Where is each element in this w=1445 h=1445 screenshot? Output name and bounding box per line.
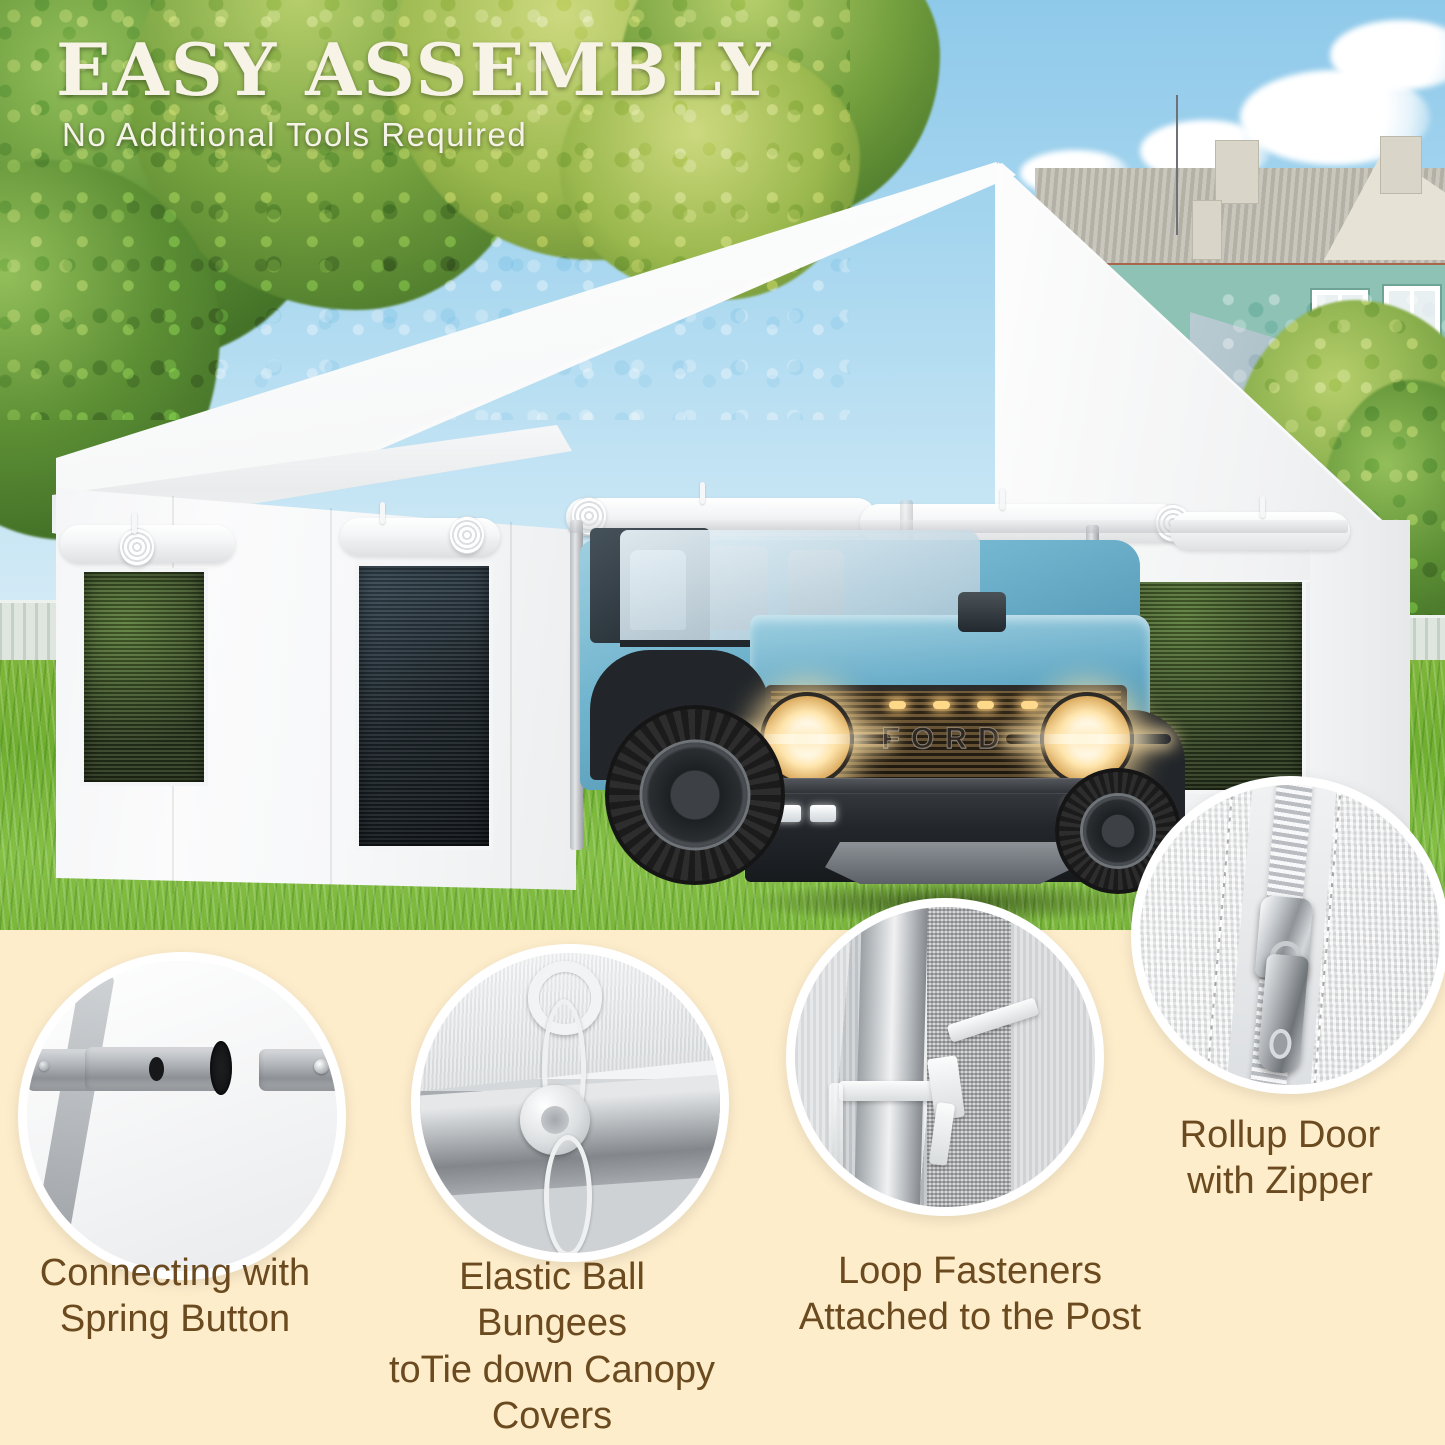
caption-ball-bungee-line-3: Covers — [380, 1393, 724, 1439]
bungee-elastic-cord-lower — [544, 1135, 592, 1253]
rollup-flap-left-2-cap — [450, 516, 484, 554]
rollup-flap-left-1-cap — [120, 528, 154, 566]
caption-ball-bungee-line-2: toTie down Canopy — [380, 1347, 724, 1393]
grille-led-2 — [933, 701, 950, 709]
caption-loop-fastener-line-1: Loop Fasteners — [790, 1248, 1150, 1294]
vehicle-grille-brand-text: FORD — [882, 722, 1011, 756]
feature-callout-spring-button — [18, 952, 346, 1280]
rollup-tie-front-3 — [1260, 496, 1265, 518]
caption-ball-bungee: Elastic Ball Bungees toTie down Canopy C… — [380, 1254, 724, 1439]
grille-led-4 — [1021, 701, 1038, 709]
caption-loop-fastener-line-2: Attached to the Post — [790, 1294, 1150, 1340]
product-feature-image: FORD — [0, 0, 1445, 1445]
grille-led-1 — [889, 701, 906, 709]
vehicle-wheel-front-left — [605, 705, 785, 885]
caption-ball-bungee-line-1: Elastic Ball Bungees — [380, 1254, 724, 1347]
loop-fastener-edge-hem — [829, 1083, 843, 1179]
rollup-tie-front-1 — [700, 482, 705, 504]
caption-rollup-zipper-line-2: with Zipper — [1130, 1158, 1430, 1204]
caption-spring-button-line-1: Connecting with — [20, 1250, 330, 1296]
wall-seam-3 — [510, 522, 512, 922]
carport-window-left-1 — [80, 568, 208, 786]
carport-window-left-2 — [355, 562, 493, 850]
spring-button-knob-secondary — [39, 1061, 49, 1071]
vehicle-foglight-left-b — [810, 805, 836, 822]
feature-callout-ball-bungee — [411, 944, 729, 1262]
rollup-tie-front-2 — [1000, 488, 1005, 510]
canopy-post — [854, 907, 929, 1207]
caption-spring-button-line-2: Spring Button — [20, 1296, 330, 1342]
grille-led-3 — [977, 701, 994, 709]
feature-callout-rollup-zipper — [1131, 776, 1445, 1094]
spring-button-hole — [149, 1057, 164, 1081]
feature-callout-loop-fastener — [786, 898, 1104, 1216]
rollup-tie-left-1 — [132, 512, 137, 534]
subheadline-text: No Additional Tools Required — [62, 116, 527, 154]
rollup-tie-left-2 — [380, 502, 385, 524]
spring-button-knob — [314, 1059, 329, 1074]
vehicle-rim-front-left — [643, 743, 748, 848]
caption-spring-button: Connecting with Spring Button — [20, 1250, 330, 1343]
parked-vehicle: FORD — [560, 520, 1200, 960]
headline-text: EASY ASSEMBLY — [56, 34, 772, 106]
wall-seam-2 — [330, 508, 332, 910]
caption-rollup-zipper: Rollup Door with Zipper — [1130, 1112, 1430, 1205]
caption-rollup-zipper-line-1: Rollup Door — [1130, 1112, 1430, 1158]
vehicle-skid-plate — [825, 842, 1075, 884]
caption-loop-fastener: Loop Fasteners Attached to the Post — [790, 1248, 1150, 1341]
pole-tube-open-end — [210, 1041, 232, 1095]
vehicle-side-mirror — [958, 592, 1006, 632]
